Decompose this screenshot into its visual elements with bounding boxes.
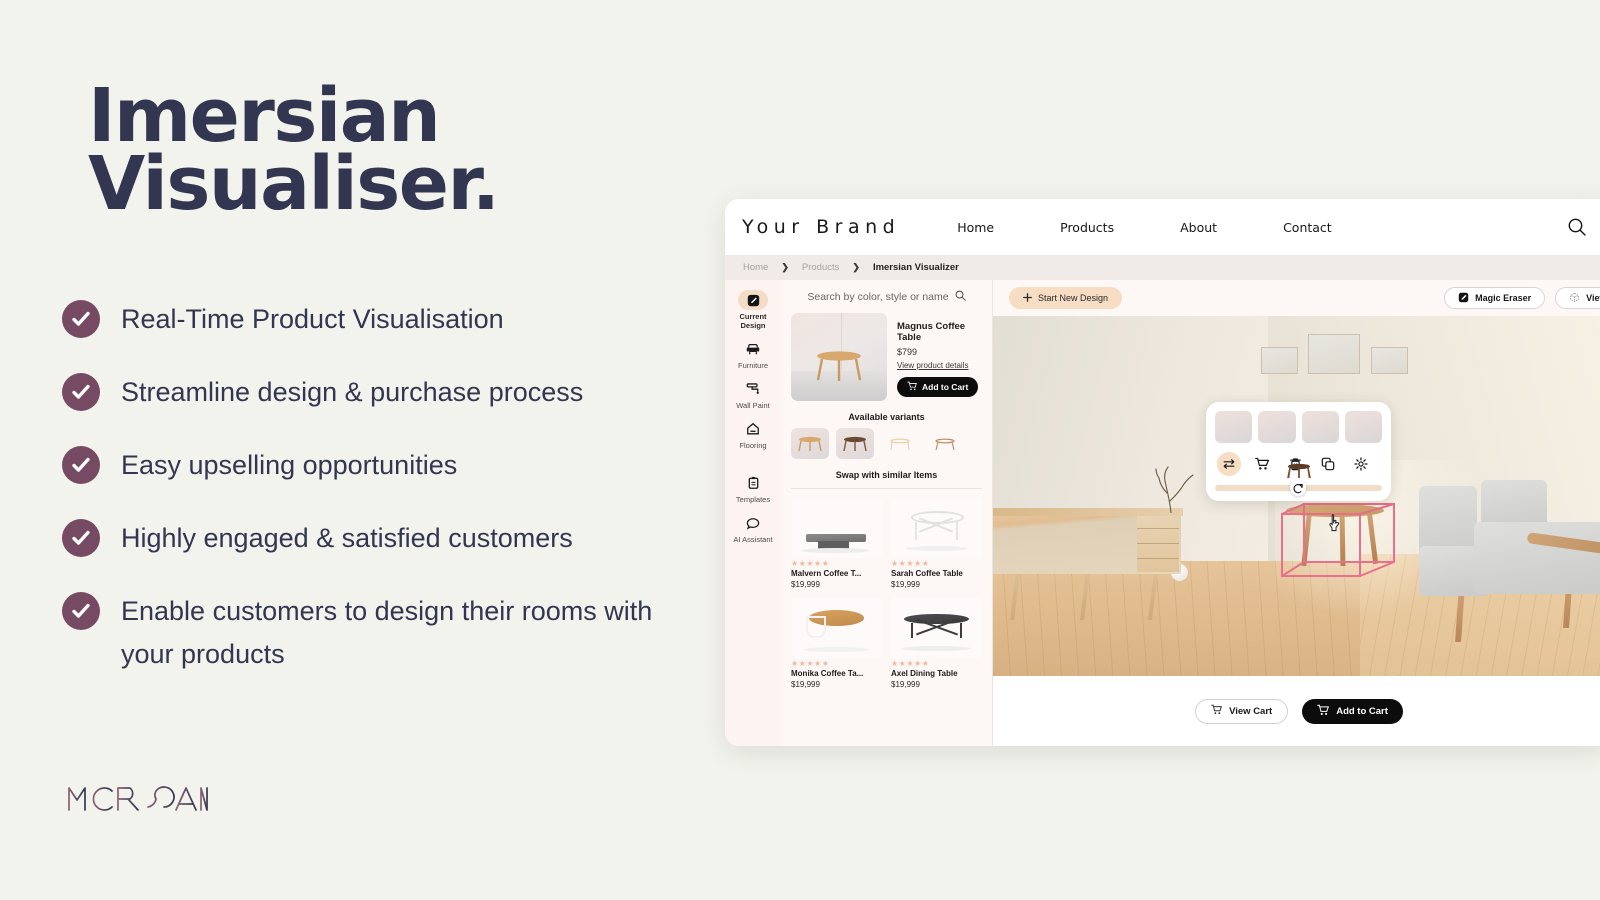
product-thumbnail[interactable] <box>791 498 882 558</box>
breadcrumb: Home ❯ Products ❯ Imersian Visualizer <box>725 255 1600 280</box>
check-circle-icon <box>62 373 100 411</box>
list-item: ★★★★★ Sarah Coffee Table $19,999 <box>891 489 982 589</box>
product-thumbnail[interactable] <box>891 498 982 558</box>
check-circle-icon <box>62 519 100 557</box>
benefit-label: Real-Time Product Visualisation <box>121 298 504 340</box>
benefit-label: Easy upselling opportunities <box>121 444 457 486</box>
sidebar-item-label: Templates <box>736 495 770 504</box>
breadcrumb-item-current: Imersian Visualizer <box>873 262 959 273</box>
product-title: Magnus Coffee Table <box>897 321 982 343</box>
add-to-cart-label: Add to Cart <box>922 382 968 392</box>
table-glyph <box>813 350 865 382</box>
page-title: Imersian Visualiser. <box>88 82 499 218</box>
rotation-slider-handle[interactable] <box>1290 480 1306 496</box>
duplicate-icon[interactable] <box>1316 452 1340 476</box>
product-title: Axel Dining Table <box>891 669 982 678</box>
magic-eraser-label: Magic Eraser <box>1475 293 1531 303</box>
product-thumbnail[interactable] <box>891 598 982 658</box>
start-new-design-button[interactable]: Start New Design <box>1009 287 1122 309</box>
eraser-icon <box>1458 292 1469 305</box>
start-new-design-label: Start New Design <box>1038 293 1108 303</box>
benefit-label: Streamline design & purchase process <box>121 371 583 413</box>
shopping-cart-icon <box>907 381 917 393</box>
site-header: Your Brand Home Products About Contact <box>725 199 1600 255</box>
list-item: ★★★★★ Monika Coffee Ta... $19,999 <box>791 589 882 689</box>
check-circle-icon <box>62 592 100 630</box>
chevron-right-icon: ❯ <box>852 262 860 273</box>
available-variants-label: Available variants <box>791 412 982 422</box>
object-variant-thumbnail[interactable] <box>1302 411 1339 443</box>
add-to-cart-label: Add to Cart <box>1336 706 1388 717</box>
product-panel: Search by color, style or name <box>781 280 993 746</box>
search-icon[interactable] <box>1567 217 1587 237</box>
list-item: Streamline design & purchase process <box>62 371 702 413</box>
brand-name: Your Brand <box>742 216 900 238</box>
rating-stars: ★★★★★ <box>791 659 882 668</box>
ar-cube-icon <box>1569 292 1580 305</box>
sidebar-item-templates[interactable]: Templates <box>725 473 781 504</box>
hero-product-info: Magnus Coffee Table $799 View product de… <box>897 313 982 401</box>
sofa[interactable] <box>1419 486 1600 636</box>
branch-decor <box>1151 463 1195 513</box>
product-title: Monika Coffee Ta... <box>791 669 882 678</box>
hero-product-image[interactable] <box>791 313 887 401</box>
rotation-slider[interactable] <box>1215 485 1382 491</box>
settings-gear-icon[interactable] <box>1349 452 1373 476</box>
view-in-space-label: View in Space <box>1586 293 1600 303</box>
list-item: Highly engaged & satisfied customers <box>62 517 702 559</box>
rotate-icon <box>1293 483 1304 494</box>
marketing-panel: Imersian Visualiser. Real-Time Product V… <box>0 0 720 900</box>
view-in-space-button[interactable]: View in Space <box>1555 287 1600 309</box>
sidebar-item-label: Flooring <box>739 441 766 450</box>
product-title: Sarah Coffee Table <box>891 569 982 578</box>
nav-item-home[interactable]: Home <box>957 220 994 235</box>
rating-stars: ★★★★★ <box>891 559 982 568</box>
hero-product-card: Magnus Coffee Table $799 View product de… <box>791 313 982 401</box>
list-item: Easy upselling opportunities <box>62 444 702 486</box>
canvas-toolbar: Start New Design Magic Eraser View in Sp… <box>993 280 1600 316</box>
imersian-logo <box>60 782 210 816</box>
plus-icon <box>1023 293 1032 304</box>
rating-stars: ★★★★★ <box>891 659 982 668</box>
list-item: ★★★★★ Axel Dining Table $19,999 <box>891 589 982 689</box>
sideboard-drawers <box>1137 514 1179 572</box>
sidebar-item-label: Current Design <box>726 312 780 330</box>
product-price: $19,999 <box>791 680 882 689</box>
sidebar-item-wall-paint[interactable]: Wall Paint <box>725 379 781 410</box>
swap-icon[interactable] <box>1217 452 1241 476</box>
armchair-icon <box>738 339 768 359</box>
shopping-cart-icon[interactable] <box>1250 452 1274 476</box>
product-price: $19,999 <box>891 680 982 689</box>
similar-items-grid: ★★★★★ Malvern Coffee T... $19,999 ★★★★★ … <box>791 489 982 689</box>
wall-art <box>1261 347 1298 374</box>
add-to-cart-button[interactable]: Add to Cart <box>1302 699 1403 724</box>
product-price: $799 <box>897 347 982 357</box>
product-thumbnail[interactable] <box>791 598 882 658</box>
chevron-right-icon: ❯ <box>781 262 789 273</box>
sidebar-divider-gap <box>725 459 781 473</box>
view-cart-button[interactable]: View Cart <box>1195 699 1288 724</box>
search-placeholder: Search by color, style or name <box>807 291 948 303</box>
sidebar-item-label: Wall Paint <box>736 401 769 410</box>
site-nav: Home Products About Contact <box>957 220 1398 235</box>
rating-stars: ★★★★★ <box>791 559 882 568</box>
search-icon[interactable] <box>955 288 966 306</box>
benefits-list: Real-Time Product Visualisation Streamli… <box>62 298 702 706</box>
list-item: ★★★★★ Malvern Coffee T... $19,999 <box>791 489 882 589</box>
object-variant-row <box>1215 411 1382 443</box>
list-item: Real-Time Product Visualisation <box>62 298 702 340</box>
sidebar-item-flooring[interactable]: Flooring <box>725 419 781 450</box>
product-price: $19,999 <box>891 580 982 589</box>
product-title: Malvern Coffee T... <box>791 569 882 578</box>
product-price: $19,999 <box>791 580 882 589</box>
object-variant-thumbnail[interactable] <box>1215 411 1252 443</box>
view-cart-label: View Cart <box>1229 706 1272 717</box>
app-body: Current Design Furniture Wall Paint Floo… <box>725 280 1600 746</box>
breadcrumb-item-home[interactable]: Home <box>743 262 768 273</box>
tool-sidebar: Current Design Furniture Wall Paint Floo… <box>725 280 781 746</box>
sidebar-item-ai-assistant[interactable]: AI Assistant <box>725 513 781 544</box>
variant-thumbnail[interactable] <box>881 428 919 459</box>
clipboard-icon <box>738 473 768 493</box>
nav-item-contact[interactable]: Contact <box>1283 220 1332 235</box>
sidebar-item-label: Furniture <box>738 361 768 370</box>
search-input[interactable]: Search by color, style or name <box>791 288 982 306</box>
selected-object-coffee-table[interactable] <box>1278 500 1398 590</box>
object-variant-thumbnail[interactable] <box>1345 411 1382 443</box>
view-product-details-link[interactable]: View product details <box>897 361 982 370</box>
nav-item-products[interactable]: Products <box>1060 220 1114 235</box>
cart-action-bar: View Cart Add to Cart <box>993 676 1600 746</box>
canvas-toolbar-right: Magic Eraser View in Space <box>1444 287 1600 309</box>
wall-art <box>1371 347 1408 374</box>
object-variant-thumbnail[interactable] <box>1258 411 1295 443</box>
check-circle-icon <box>62 300 100 338</box>
shopping-cart-icon <box>1317 704 1329 719</box>
app-window: Your Brand Home Products About Contact H… <box>725 199 1600 746</box>
swap-similar-items-label: Swap with similar Items <box>791 470 982 480</box>
benefit-label: Enable customers to design their rooms w… <box>121 590 691 674</box>
wall-art <box>1308 334 1360 374</box>
sidebar-item-furniture[interactable]: Furniture <box>725 339 781 370</box>
paint-roller-icon <box>738 379 768 399</box>
home-outline-icon <box>738 419 768 439</box>
variant-thumbnail[interactable] <box>791 428 829 459</box>
cursor-pointer-icon <box>1328 514 1342 532</box>
room-render-canvas[interactable] <box>993 316 1600 676</box>
chat-bubble-icon <box>738 513 768 533</box>
variant-thumbnail[interactable] <box>926 428 964 459</box>
nav-item-about[interactable]: About <box>1180 220 1217 235</box>
breadcrumb-item-products[interactable]: Products <box>802 262 840 273</box>
object-action-panel <box>1206 402 1391 501</box>
sidebar-item-current-design[interactable]: Current Design <box>725 290 781 330</box>
sidebar-item-label: AI Assistant <box>733 535 772 544</box>
variant-thumbnail-row <box>791 428 982 459</box>
pencil-square-icon <box>738 290 768 310</box>
magic-eraser-button[interactable]: Magic Eraser <box>1444 287 1545 309</box>
canvas-area: Start New Design Magic Eraser View in Sp… <box>993 280 1600 746</box>
shopping-cart-icon <box>1211 704 1222 718</box>
check-circle-icon <box>62 446 100 484</box>
benefit-label: Highly engaged & satisfied customers <box>121 517 573 559</box>
variant-thumbnail[interactable] <box>836 428 874 459</box>
list-item: Enable customers to design their rooms w… <box>62 590 702 674</box>
add-to-cart-button[interactable]: Add to Cart <box>897 377 978 397</box>
